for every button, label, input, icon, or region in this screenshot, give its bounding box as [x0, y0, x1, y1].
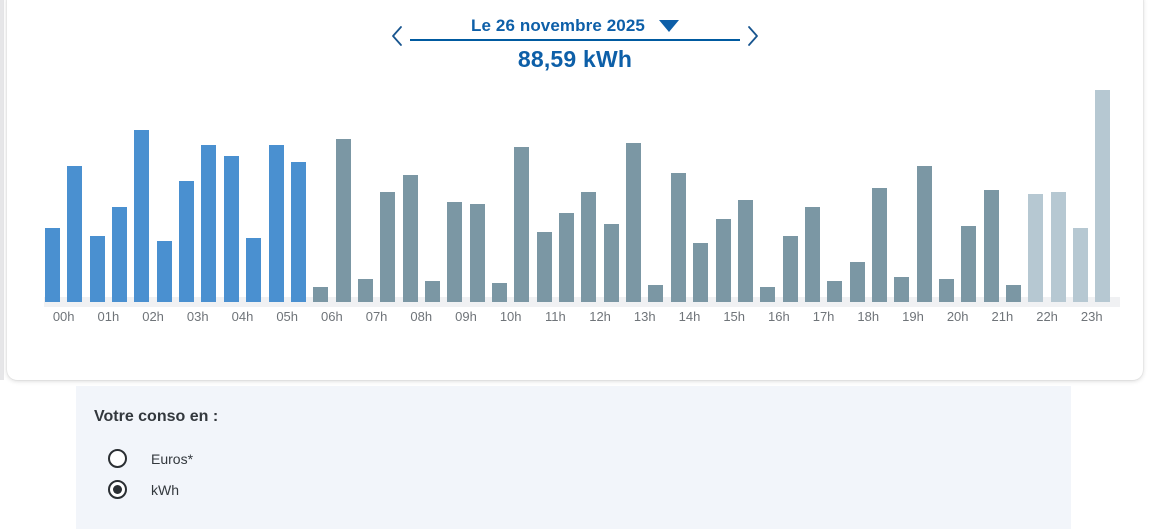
chevron-left-icon: [390, 25, 404, 47]
chart-x-axis: 00h01h02h03h04h05h06h07h08h09h10h11h12h1…: [37, 309, 1127, 333]
chart-bar[interactable]: [179, 181, 194, 302]
chart-bar[interactable]: [1095, 90, 1110, 302]
x-axis-tick-label: 09h: [455, 309, 477, 324]
chart-bar[interactable]: [671, 173, 686, 302]
chart-bar[interactable]: [1028, 194, 1043, 302]
chart-bar[interactable]: [984, 190, 999, 302]
x-axis-tick-label: 06h: [321, 309, 343, 324]
radio-euros-dot: [113, 454, 122, 463]
chart-bar[interactable]: [738, 200, 753, 302]
radio-kwh-label: kWh: [151, 482, 179, 498]
chart-bar[interactable]: [961, 226, 976, 302]
chart-bar[interactable]: [492, 283, 507, 302]
chart-bar[interactable]: [827, 281, 842, 302]
next-day-button[interactable]: [740, 16, 766, 56]
chart-bar[interactable]: [1006, 285, 1021, 302]
chart-bar[interactable]: [559, 213, 574, 302]
chart-bar[interactable]: [291, 162, 306, 302]
chart-bar[interactable]: [313, 287, 328, 302]
x-axis-tick-label: 20h: [947, 309, 969, 324]
x-axis-tick-label: 04h: [232, 309, 254, 324]
date-navigator: Le 26 novembre 2025 88,59 kWh: [7, 16, 1143, 73]
chart-bars: [37, 85, 1127, 307]
chart-bar[interactable]: [1051, 192, 1066, 302]
date-display: Le 26 novembre 2025 88,59 kWh: [410, 16, 740, 73]
chart-bar[interactable]: [872, 188, 887, 302]
x-axis-tick-label: 21h: [992, 309, 1014, 324]
page-root: Le 26 novembre 2025 88,59 kWh 00h01h02h0…: [0, 0, 1150, 529]
x-axis-tick-label: 17h: [813, 309, 835, 324]
chart-bar[interactable]: [939, 279, 954, 302]
x-axis-tick-label: 08h: [410, 309, 432, 324]
chart-bar[interactable]: [425, 281, 440, 302]
panel-title: Votre conso en :: [94, 408, 218, 426]
chart-bar[interactable]: [514, 147, 529, 302]
chart-bar[interactable]: [336, 139, 351, 302]
x-axis-tick-label: 07h: [366, 309, 388, 324]
chart-bar[interactable]: [693, 243, 708, 302]
chart-bar[interactable]: [648, 285, 663, 302]
chart-bar[interactable]: [112, 207, 127, 302]
x-axis-tick-label: 02h: [142, 309, 164, 324]
x-axis-tick-label: 16h: [768, 309, 790, 324]
total-consumption-value: 88,59 kWh: [518, 46, 632, 73]
radio-kwh-dot: [113, 485, 122, 494]
chart-bar[interactable]: [246, 238, 261, 302]
chart-bar[interactable]: [403, 175, 418, 302]
chart-bar[interactable]: [716, 219, 731, 302]
chart-bar[interactable]: [269, 145, 284, 302]
x-axis-tick-label: 10h: [500, 309, 522, 324]
chart-bar[interactable]: [850, 262, 865, 302]
chart-bar[interactable]: [201, 145, 216, 302]
chart-bar[interactable]: [134, 130, 149, 302]
chart-bar[interactable]: [380, 192, 395, 302]
chevron-right-icon: [746, 25, 760, 47]
chart-bar[interactable]: [358, 279, 373, 302]
chart-bar[interactable]: [805, 207, 820, 302]
x-axis-tick-label: 00h: [53, 309, 75, 324]
chart-bar[interactable]: [470, 204, 485, 302]
chart-bar[interactable]: [894, 277, 909, 302]
chart-bar[interactable]: [783, 236, 798, 302]
x-axis-tick-label: 01h: [98, 309, 120, 324]
radio-option-euros[interactable]: Euros*: [108, 449, 193, 468]
radio-euros-icon[interactable]: [108, 449, 127, 468]
consumption-chart-card: Le 26 novembre 2025 88,59 kWh 00h01h02h0…: [7, 0, 1143, 380]
x-axis-tick-label: 12h: [589, 309, 611, 324]
hourly-consumption-chart: 00h01h02h03h04h05h06h07h08h09h10h11h12h1…: [37, 85, 1127, 335]
radio-kwh-icon[interactable]: [108, 480, 127, 499]
chart-bar[interactable]: [67, 166, 82, 302]
chart-bar[interactable]: [224, 156, 239, 302]
chart-bar[interactable]: [45, 228, 60, 302]
x-axis-tick-label: 13h: [634, 309, 656, 324]
x-axis-tick-label: 11h: [545, 309, 566, 324]
chart-bar[interactable]: [537, 232, 552, 302]
chart-bar[interactable]: [447, 202, 462, 302]
chart-bar[interactable]: [760, 287, 775, 302]
page-left-edge: [0, 0, 4, 380]
x-axis-tick-label: 14h: [679, 309, 701, 324]
chart-bar[interactable]: [90, 236, 105, 302]
x-axis-tick-label: 05h: [276, 309, 298, 324]
x-axis-tick-label: 03h: [187, 309, 209, 324]
chart-plot-area: [37, 85, 1127, 307]
selected-date-label: Le 26 novembre 2025: [471, 16, 645, 36]
previous-day-button[interactable]: [384, 16, 410, 56]
date-selector-row[interactable]: Le 26 novembre 2025: [410, 16, 740, 41]
radio-option-kwh[interactable]: kWh: [108, 480, 179, 499]
x-axis-tick-label: 19h: [902, 309, 924, 324]
chart-bar[interactable]: [581, 192, 596, 302]
x-axis-tick-label: 15h: [723, 309, 745, 324]
consumption-unit-panel: Votre conso en : Euros* kWh: [76, 386, 1071, 529]
x-axis-tick-label: 23h: [1081, 309, 1103, 324]
chart-bar[interactable]: [1073, 228, 1088, 302]
chart-bar[interactable]: [604, 224, 619, 302]
caret-down-icon[interactable]: [659, 20, 679, 32]
x-axis-tick-label: 18h: [857, 309, 879, 324]
x-axis-tick-label: 22h: [1036, 309, 1058, 324]
chart-bar[interactable]: [626, 143, 641, 302]
chart-bar[interactable]: [917, 166, 932, 302]
chart-bar[interactable]: [157, 241, 172, 302]
radio-euros-label: Euros*: [151, 451, 193, 467]
